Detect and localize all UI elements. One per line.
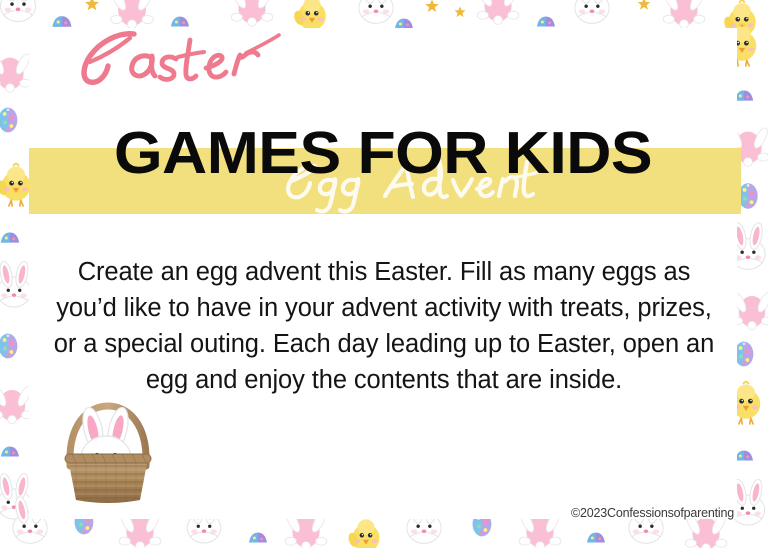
poster-canvas: GAMES FOR KIDS xyxy=(0,0,768,548)
script-title-easter xyxy=(60,22,300,96)
page-title: GAMES FOR KIDS xyxy=(8,122,758,184)
basket-svg xyxy=(48,382,180,506)
bunny-in-basket-illustration xyxy=(48,382,180,506)
copyright-text: ©2023Confessionsofparenting xyxy=(571,506,734,520)
easter-script-svg xyxy=(60,22,300,96)
body-paragraph: Create an egg advent this Easter. Fill a… xyxy=(48,254,720,398)
